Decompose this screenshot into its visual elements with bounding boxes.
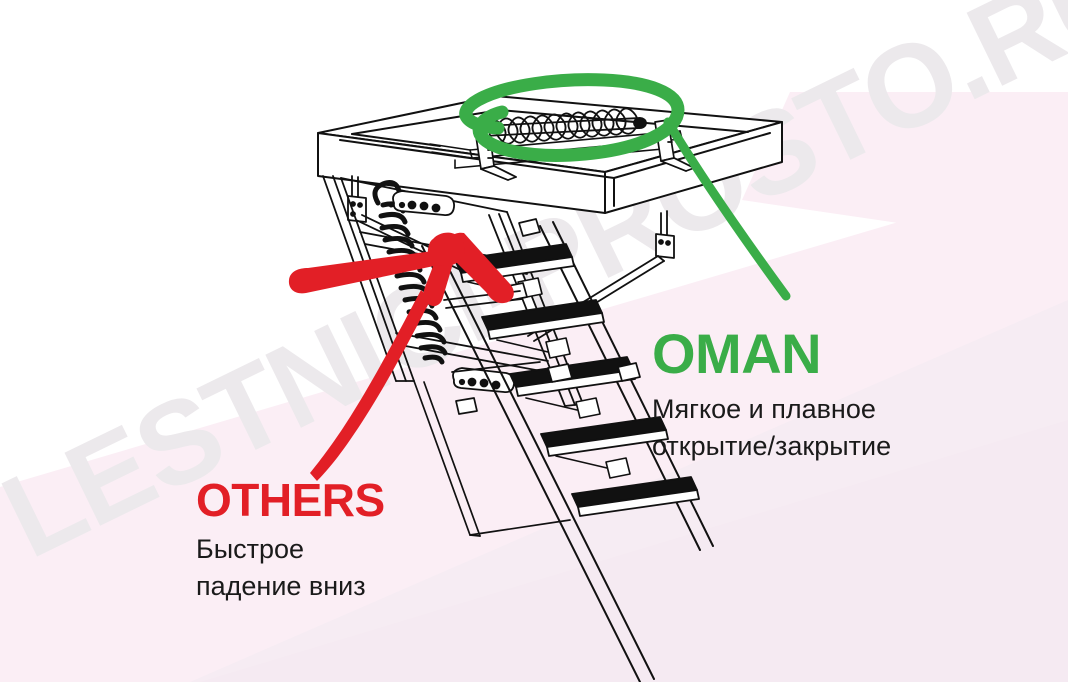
oman-title: OMAN	[652, 326, 891, 382]
fast-fall-arrow-body	[428, 233, 465, 266]
others-title: OTHERS	[196, 477, 385, 523]
others-line-2: падение вниз	[196, 568, 385, 605]
fast-fall-arrow-tail	[310, 290, 431, 481]
oman-callout: OMAN Мягкое и плавное открытие/закрытие	[652, 326, 891, 466]
others-callout: OTHERS Быстрое падение вниз	[196, 477, 385, 606]
others-description: Быстрое падение вниз	[196, 531, 385, 606]
oman-description: Мягкое и плавное открытие/закрытие	[652, 391, 891, 466]
others-line-1: Быстрое	[196, 531, 385, 568]
oman-line-1: Мягкое и плавное	[652, 391, 891, 428]
red-annotation	[0, 0, 1068, 682]
oman-line-2: открытие/закрытие	[652, 428, 891, 465]
comparison-infographic: LESTNICI-PROSTO.RU	[0, 0, 1068, 682]
